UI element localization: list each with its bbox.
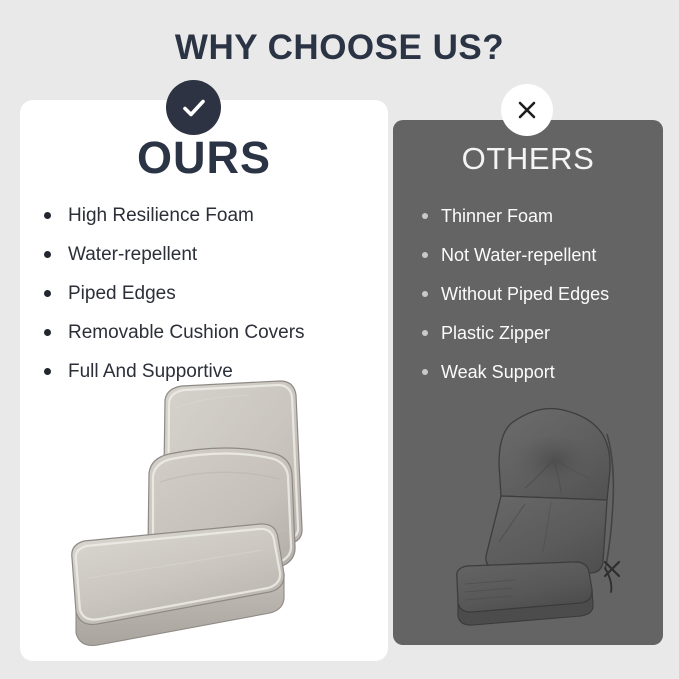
comparison-infographic: WHY CHOOSE US? <box>0 0 679 679</box>
feature-label: Weak Support <box>441 360 555 384</box>
feature-label: Piped Edges <box>68 282 176 306</box>
list-item: Weak Support <box>422 352 657 391</box>
list-item: High Resilience Foam <box>44 196 374 235</box>
ours-heading: OURS <box>20 132 388 184</box>
bullet-icon <box>422 252 428 258</box>
list-item: Plastic Zipper <box>422 313 657 352</box>
bullet-icon <box>422 213 428 219</box>
page-title: WHY CHOOSE US? <box>0 27 679 69</box>
close-icon <box>514 97 540 123</box>
feature-label: Plastic Zipper <box>441 321 550 345</box>
feature-label: Thinner Foam <box>441 204 553 228</box>
list-item: Removable Cushion Covers <box>44 313 374 352</box>
list-item: Piped Edges <box>44 274 374 313</box>
bullet-icon <box>422 291 428 297</box>
close-badge <box>501 84 553 136</box>
bullet-icon <box>44 290 51 297</box>
others-fabric-tie <box>605 562 619 592</box>
list-item: Without Piped Edges <box>422 274 657 313</box>
ours-feature-list: High Resilience Foam Water-repellent Pip… <box>44 196 374 391</box>
list-item: Water-repellent <box>44 235 374 274</box>
others-heading: OTHERS <box>393 140 663 178</box>
bullet-icon <box>422 330 428 336</box>
bullet-icon <box>44 212 51 219</box>
list-item: Not Water-repellent <box>422 235 657 274</box>
feature-label: Water-repellent <box>68 243 197 267</box>
bullet-icon <box>44 368 51 375</box>
others-product-image <box>455 392 645 632</box>
others-back-cushion <box>499 409 610 501</box>
bullet-icon <box>44 251 51 258</box>
bullet-icon <box>44 329 51 336</box>
others-seat-cushion <box>457 562 593 625</box>
others-feature-list: Thinner Foam Not Water-repellent Without… <box>422 196 657 391</box>
others-lower-back-cushion <box>486 496 607 573</box>
feature-label: Without Piped Edges <box>441 282 609 306</box>
feature-label: High Resilience Foam <box>68 204 254 228</box>
feature-label: Not Water-repellent <box>441 243 596 267</box>
feature-label: Full And Supportive <box>68 360 233 384</box>
ours-product-image <box>48 378 360 656</box>
check-badge <box>166 80 221 135</box>
list-item: Full And Supportive <box>44 352 374 391</box>
list-item: Thinner Foam <box>422 196 657 235</box>
ours-seat-cushion <box>72 524 284 646</box>
bullet-icon <box>422 369 428 375</box>
feature-label: Removable Cushion Covers <box>68 321 305 345</box>
check-icon <box>179 93 209 123</box>
